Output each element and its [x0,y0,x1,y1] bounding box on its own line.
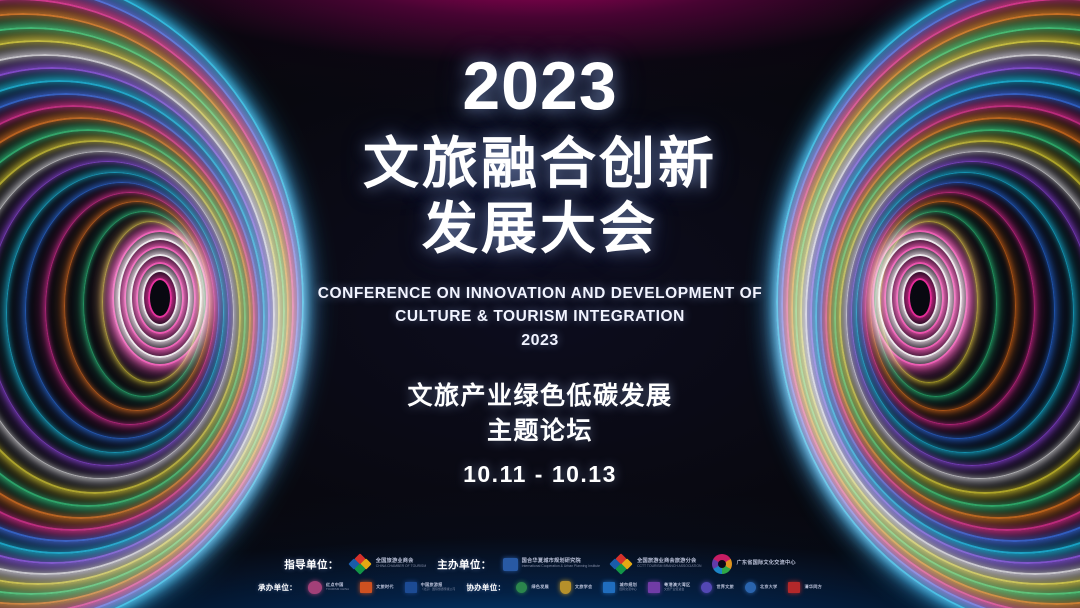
sq-logo-icon [603,582,615,593]
poster-english-title: CONFERENCE ON INNOVATION AND DEVELOPMENT… [0,282,1080,353]
sponsor-logo: 全国旅游业商会旅游分会CCTT TOURISM BRANCH ASSOCIATI… [611,555,701,573]
sponsor-logo: 世界文旅 [701,582,734,593]
sponsor-group-label: 协办单位： [466,582,505,593]
sponsor-group-label: 承办单位： [258,582,297,593]
sponsor-name-sub: TOURISM CHINA [326,588,349,591]
sponsor-logo: 文旅学会 [560,581,593,594]
sponsor-logo: 文旅时代 [360,582,394,593]
sponsor-name: 北京大学 [760,585,778,590]
sponsor-name: 文旅学会 [575,585,593,590]
sq-logo-icon [405,582,417,593]
poster-year: 2023 [0,52,1080,120]
pinwheel-logo-icon [712,554,732,574]
sponsor-logo: 清华同方 [788,582,822,593]
shield-logo-icon [560,581,571,594]
sponsor-logo: 国合华夏城市规划研究院International Cooperation & U… [503,558,600,571]
diamond-logo-icon [350,555,372,573]
sponsor-logo: 红点中国TOURISM CHINA [308,581,349,594]
sponsor-group-label: 主办单位： [437,557,492,572]
sponsor-name: 清华同方 [804,585,822,590]
sq-logo-icon [788,582,800,593]
english-title-line2: CULTURE & TOURISM INTEGRATION [0,305,1080,329]
sponsor-logo: 城市规划国际交流中心 [603,582,637,593]
sponsor-group-label: 指导单位： [284,557,339,572]
conference-poster: 2023 文旅融合创新 发展大会 CONFERENCE ON INNOVATIO… [0,0,1080,608]
sponsor-logo: 北京大学 [745,582,778,593]
sponsor-logo: 绿色发展 [516,582,549,593]
circ-logo-icon [745,582,756,593]
circ-logo-icon [516,582,527,593]
sq-logo-icon [360,582,372,593]
sponsor-name-sub: International Cooperation & Urban Planni… [522,565,600,569]
sponsor-name: 全国旅游业商会CHINA CHAMBER OF TOURISM [376,559,426,569]
sponsor-name-sub: CCTT TOURISM BRANCH ASSOCIATION [637,565,701,569]
poster-content: 2023 文旅融合创新 发展大会 CONFERENCE ON INNOVATIO… [0,0,1080,488]
sponsor-logo: 广东省国际文化交流中心 [712,554,795,574]
event-dates: 10.11 - 10.13 [0,461,1080,488]
forum-theme-line1: 文旅产业绿色低碳发展 [0,379,1080,414]
swoosh-logo-icon [308,581,322,594]
box-logo-icon [503,558,518,571]
poster-title: 文旅融合创新 发展大会 [0,132,1080,262]
english-title-year: 2023 [0,329,1080,353]
sponsor-name: 全国旅游业商会旅游分会CCTT TOURISM BRANCH ASSOCIATI… [637,559,701,569]
diamond-logo-icon [611,555,633,573]
sponsor-name: 广东省国际文化交流中心 [736,561,795,567]
sponsor-name: 中国旅游报（北京）国际旅游传媒公司 [421,583,456,591]
sponsor-name: 红点中国TOURISM CHINA [326,583,349,591]
sponsor-name: 粤港澳大湾区文旅产业促进会 [664,583,690,591]
sponsor-section: 指导单位：全国旅游业商会CHINA CHAMBER OF TOURISM主办单位… [0,547,1080,594]
sponsor-logo: 全国旅游业商会CHINA CHAMBER OF TOURISM [350,555,426,573]
forum-theme: 文旅产业绿色低碳发展 主题论坛 [0,379,1080,448]
sponsor-name: 世界文旅 [716,585,734,590]
sponsor-name: 城市规划国际交流中心 [619,583,637,591]
english-title-line1: CONFERENCE ON INNOVATION AND DEVELOPMENT… [0,282,1080,306]
sponsor-name-sub: （北京）国际旅游传媒公司 [421,588,456,591]
sponsor-name: 国合华夏城市规划研究院International Cooperation & U… [522,559,600,569]
sponsor-logo: 粤港澳大湾区文旅产业促进会 [648,582,690,593]
sponsor-name-sub: 文旅产业促进会 [664,588,690,591]
sponsor-row-secondary: 承办单位：红点中国TOURISM CHINA文旅时代中国旅游报（北京）国际旅游传… [0,581,1080,594]
sponsor-logo: 中国旅游报（北京）国际旅游传媒公司 [405,582,456,593]
sponsor-name-sub: 国际交流中心 [619,588,637,591]
circ-logo-icon [701,582,712,593]
sq-logo-icon [648,582,660,593]
poster-title-line1: 文旅融合创新 [0,132,1080,197]
sponsor-row-primary: 指导单位：全国旅游业商会CHINA CHAMBER OF TOURISM主办单位… [0,554,1080,574]
sponsor-name: 绿色发展 [531,585,549,590]
sponsor-name-sub: CHINA CHAMBER OF TOURISM [376,565,426,569]
poster-title-line2: 发展大会 [0,197,1080,262]
sponsor-name: 文旅时代 [376,585,394,590]
forum-theme-line2: 主题论坛 [0,414,1080,449]
